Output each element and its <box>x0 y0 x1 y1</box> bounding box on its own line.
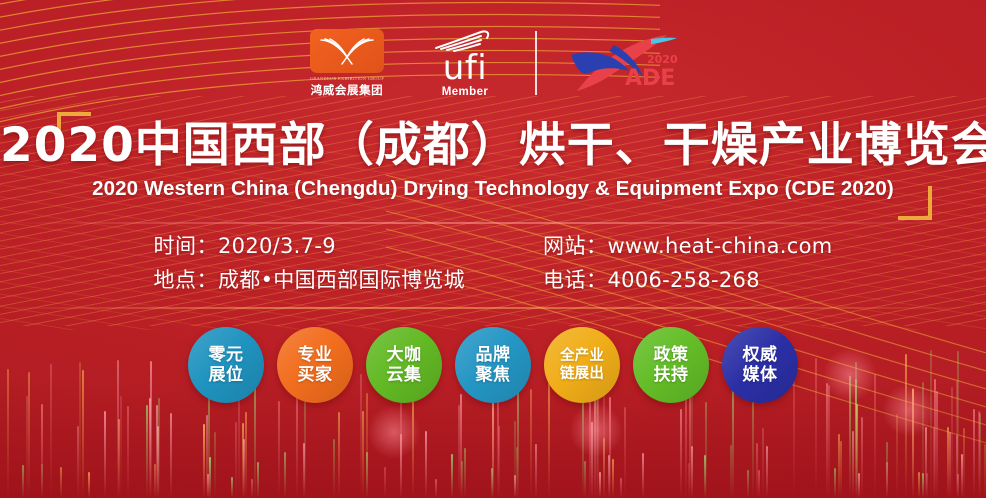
separator-glow-top <box>0 222 986 224</box>
light-streak <box>886 442 888 498</box>
light-streak <box>208 391 210 498</box>
light-streak <box>947 427 949 498</box>
light-streak <box>603 438 605 498</box>
ade-2020-logo: 2020 ADE <box>559 27 683 99</box>
badge-label-line2: 链展出 <box>560 365 604 383</box>
light-streak <box>245 412 247 498</box>
light-streak <box>243 439 245 498</box>
badge-label-line2: 扶持 <box>654 365 689 385</box>
light-streak <box>461 461 463 498</box>
light-streak <box>60 467 62 498</box>
highlight-badge-6[interactable]: 政策扶持 <box>633 327 709 403</box>
light-streak <box>642 453 644 498</box>
light-streak <box>535 444 537 498</box>
light-streak <box>918 472 920 498</box>
highlight-badge-7[interactable]: 权威媒体 <box>722 327 798 403</box>
event-info-left-column: 时间：2020/3.7-9 地点：成都•中国西部国际博览城 <box>154 232 466 294</box>
light-streak <box>366 452 368 498</box>
badge-label-line1: 全产业 <box>560 347 604 365</box>
ade-year-text: 2020 <box>647 53 678 66</box>
badge-label-line2: 云集 <box>387 365 422 385</box>
light-streak <box>973 409 975 498</box>
light-streak <box>203 424 205 498</box>
light-streak <box>257 462 259 498</box>
light-streak <box>912 389 914 498</box>
badge-label-line2: 媒体 <box>743 365 778 385</box>
light-streak <box>691 446 693 498</box>
light-streak <box>238 392 240 498</box>
highlight-badge-5[interactable]: 全产业链展出 <box>544 327 620 403</box>
light-streak <box>333 439 335 498</box>
light-streak <box>896 414 898 498</box>
light-streak <box>460 394 462 498</box>
light-streak <box>26 396 28 498</box>
light-streak <box>599 472 601 498</box>
light-streak <box>400 396 402 498</box>
highlight-badge-2[interactable]: 专业买家 <box>277 327 353 403</box>
badge-label-line2: 展位 <box>209 365 244 385</box>
light-streak <box>861 417 863 498</box>
light-streak <box>979 413 981 498</box>
light-streak <box>400 434 402 498</box>
highlight-badge-4[interactable]: 品牌聚焦 <box>455 327 531 403</box>
light-streak <box>766 446 768 498</box>
light-streak <box>278 401 280 498</box>
light-streak <box>88 472 90 498</box>
light-streak <box>886 462 888 498</box>
light-streak <box>209 457 211 498</box>
light-streak <box>284 452 286 498</box>
light-streak <box>624 407 626 498</box>
light-streak <box>752 392 754 498</box>
light-streak <box>464 448 466 498</box>
light-streak <box>926 473 928 498</box>
light-streak <box>498 426 500 498</box>
light-streak <box>963 428 965 498</box>
logo-divider <box>535 31 537 95</box>
light-streak <box>412 396 414 498</box>
page-title-english: 2020 Western China (Chengdu) Drying Tech… <box>0 176 986 202</box>
event-website-value[interactable]: www.heat-china.com <box>608 234 833 258</box>
light-streak <box>852 431 854 498</box>
light-streak <box>949 432 951 498</box>
light-streak <box>235 422 237 498</box>
event-phone-line: 电话：4006-258-268 <box>543 266 832 294</box>
event-website-label: 网站： <box>543 234 608 258</box>
light-streak <box>251 479 253 498</box>
light-streak <box>127 406 129 498</box>
light-streak <box>118 419 120 498</box>
light-streak <box>840 441 842 498</box>
light-streak <box>730 445 732 498</box>
grandeur-english-name: GRANDEUR EXHIBITION GROUP <box>310 76 384 81</box>
badge-label-line2: 聚焦 <box>476 365 511 385</box>
light-streak <box>435 479 437 498</box>
light-streak <box>956 435 958 498</box>
page-title-chinese: 2020中国西部（成都）烘干、干燥产业博览会 <box>0 118 986 174</box>
light-streak <box>425 431 427 498</box>
light-streak <box>978 411 980 498</box>
wings-w-mark-icon <box>310 29 384 73</box>
separator-glow-bottom <box>0 307 986 309</box>
light-streak <box>338 412 340 498</box>
light-streak <box>922 473 924 498</box>
light-streak <box>158 398 160 498</box>
light-streak <box>366 393 368 498</box>
event-date-label: 时间： <box>154 234 219 258</box>
event-date-value: 2020/3.7-9 <box>218 234 336 258</box>
ade-name-text: ADE <box>625 66 675 91</box>
light-streak <box>689 394 691 498</box>
light-streak <box>608 455 610 498</box>
light-streak <box>957 474 959 498</box>
light-streak <box>154 464 156 498</box>
grandeur-exhibition-group-logo: GRANDEUR EXHIBITION GROUP 鸿威会展集团 <box>303 29 391 98</box>
light-streak <box>856 404 858 498</box>
light-streak <box>933 427 935 498</box>
light-streak <box>858 473 860 498</box>
light-streak <box>530 389 532 498</box>
badge-label-line1: 专业 <box>298 345 333 365</box>
ufi-member-logo: ufi Member <box>417 29 513 98</box>
badge-label-line1: 大咖 <box>387 345 422 365</box>
light-streak <box>491 468 493 498</box>
light-streak <box>609 397 611 498</box>
light-streak <box>936 391 938 498</box>
event-info-block: 时间：2020/3.7-9 地点：成都•中国西部国际博览城 网站：www.hea… <box>0 232 986 294</box>
light-streak <box>514 475 516 498</box>
light-streak <box>680 409 682 498</box>
event-phone-value[interactable]: 4006-258-268 <box>608 268 760 292</box>
light-streak <box>458 405 460 498</box>
light-streak <box>451 454 453 498</box>
light-streak <box>688 463 690 498</box>
event-venue-label: 地点： <box>154 268 219 292</box>
light-streak <box>214 432 216 498</box>
light-streak <box>41 404 43 498</box>
light-streak <box>961 454 963 498</box>
event-venue-value: 成都•中国西部国际博览城 <box>218 268 465 292</box>
event-venue-line: 地点：成都•中国西部国际博览城 <box>154 266 466 294</box>
light-streak <box>925 427 927 498</box>
badge-label-line1: 权威 <box>743 345 778 365</box>
light-streak <box>77 426 79 498</box>
ufi-member-label: Member <box>442 86 489 98</box>
light-bloom <box>367 405 421 459</box>
light-streak <box>912 388 914 498</box>
event-website-line: 网站：www.heat-china.com <box>543 232 832 260</box>
light-streak <box>170 413 172 498</box>
light-streak <box>984 444 986 498</box>
light-streak <box>951 387 953 498</box>
light-streak <box>612 459 614 498</box>
logo-row: GRANDEUR EXHIBITION GROUP 鸿威会展集团 ufi Mem… <box>0 26 986 100</box>
light-streak <box>384 467 386 498</box>
light-streak <box>207 474 209 498</box>
light-streak <box>41 464 43 498</box>
light-streak <box>516 447 518 498</box>
badge-label-line1: 品牌 <box>476 345 511 365</box>
light-streak <box>838 434 840 498</box>
light-streak <box>22 465 24 498</box>
light-streak <box>762 428 764 498</box>
event-phone-label: 电话： <box>543 268 608 292</box>
light-streak <box>591 422 593 498</box>
light-streak <box>146 405 148 498</box>
light-streak <box>157 426 159 498</box>
light-streak <box>242 423 244 498</box>
light-streak <box>756 443 758 498</box>
badge-label-line1: 零元 <box>209 345 244 365</box>
light-streak <box>206 415 208 498</box>
light-streak <box>594 397 596 498</box>
highlight-badge-row: 零元展位专业买家大咖云集品牌聚焦全产业链展出政策扶持权威媒体 <box>0 327 986 403</box>
wings-w-glyph <box>318 35 376 67</box>
event-promo-banner: GRANDEUR EXHIBITION GROUP 鸿威会展集团 ufi Mem… <box>0 0 986 498</box>
light-streak <box>156 405 158 498</box>
badge-label-line1: 政策 <box>654 345 689 365</box>
light-streak <box>362 411 364 498</box>
ufi-wordmark: ufi <box>443 53 487 83</box>
event-date-line: 时间：2020/3.7-9 <box>154 232 466 260</box>
light-streak <box>747 470 749 498</box>
event-info-right-column: 网站：www.heat-china.com 电话：4006-258-268 <box>543 232 832 294</box>
ade-bird-swoosh-icon: 2020 ADE <box>559 27 683 99</box>
light-streak <box>149 398 151 498</box>
light-streak <box>514 421 516 498</box>
highlight-badge-3[interactable]: 大咖云集 <box>366 327 442 403</box>
grandeur-chinese-name: 鸿威会展集团 <box>311 82 384 98</box>
light-streak <box>620 478 622 498</box>
light-streak <box>705 402 707 498</box>
badge-label-line2: 买家 <box>298 365 333 385</box>
light-streak <box>104 411 106 498</box>
light-streak <box>584 461 586 498</box>
highlight-badge-1[interactable]: 零元展位 <box>188 327 264 403</box>
light-streak <box>231 477 233 498</box>
light-streak <box>303 443 305 498</box>
light-bloom <box>569 403 623 457</box>
light-streak <box>704 455 706 498</box>
light-streak <box>834 468 836 498</box>
light-streak <box>120 396 122 498</box>
light-streak <box>758 470 760 498</box>
